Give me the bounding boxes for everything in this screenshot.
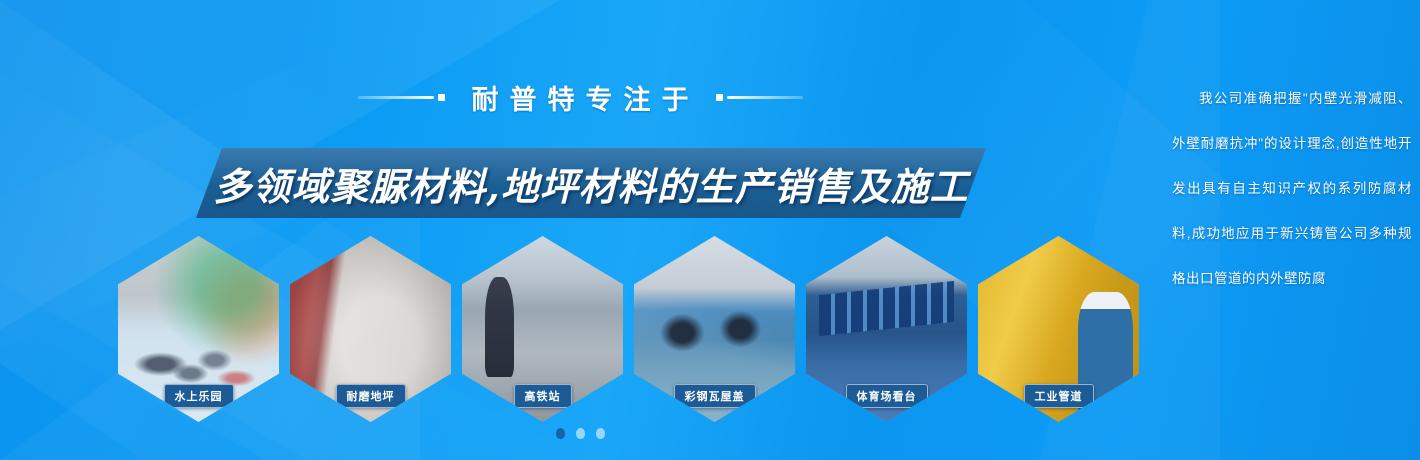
decorative-line-right: [716, 94, 803, 101]
service-tile[interactable]: 高铁站: [462, 236, 623, 422]
tile-label: 水上乐园: [164, 384, 234, 408]
tile-label: 体育场看台: [846, 384, 928, 408]
service-tile[interactable]: 体育场看台: [806, 236, 967, 422]
tile-label: 彩钢瓦屋盖: [674, 384, 756, 408]
tile-label: 高铁站: [514, 384, 572, 408]
eyebrow-headline: 耐普特专注于: [0, 78, 1160, 117]
carousel-dots: [0, 428, 1160, 439]
deco-dot-icon: [716, 94, 723, 101]
deco-line-icon: [727, 96, 803, 99]
tile-label: 工业管道: [1024, 384, 1094, 408]
service-tile[interactable]: 水上乐园: [118, 236, 279, 422]
eyebrow-text: 耐普特专注于: [461, 78, 700, 117]
headline-text: 多领域聚脲材料,地坪材料的生产销售及施工: [213, 156, 968, 211]
carousel-dot-3[interactable]: [596, 428, 605, 439]
deco-line-icon: [358, 96, 434, 99]
headline-plate: 多领域聚脲材料,地坪材料的生产销售及施工: [196, 148, 986, 218]
deco-dot-icon: [438, 94, 445, 101]
tile-label: 耐磨地坪: [336, 384, 406, 408]
carousel-dot-1[interactable]: [556, 428, 565, 439]
decorative-line-left: [358, 94, 445, 101]
service-tile[interactable]: 彩钢瓦屋盖: [634, 236, 795, 422]
carousel-dot-2[interactable]: [576, 428, 585, 439]
service-tile-list: 水上乐园 耐磨地坪 高铁站 彩钢瓦屋盖 体育场看台 工业管道: [118, 236, 1158, 422]
service-tile[interactable]: 工业管道: [978, 236, 1139, 422]
side-paragraph: 我公司准确把握"内壁光滑减阻、外壁耐磨抗冲"的设计理念,创造性地开发出具有自主知…: [1172, 76, 1412, 301]
promo-banner: 耐普特专注于 多领域聚脲材料,地坪材料的生产销售及施工 我公司准确把握"内壁光滑…: [0, 0, 1420, 460]
service-tile[interactable]: 耐磨地坪: [290, 236, 451, 422]
